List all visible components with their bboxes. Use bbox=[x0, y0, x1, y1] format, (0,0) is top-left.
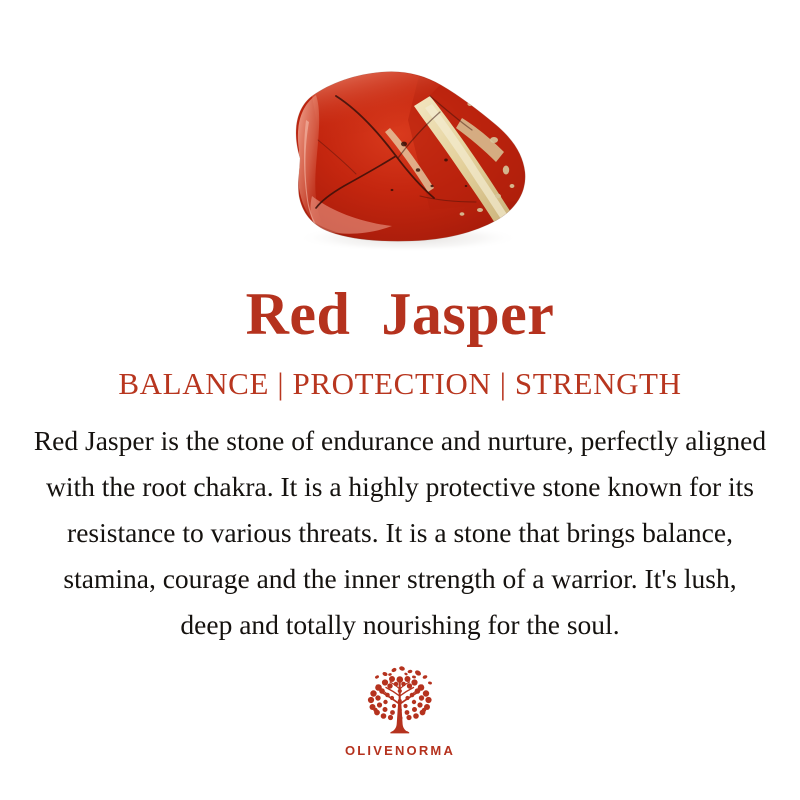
product-info-card: Red Jasper BALANCE | PROTECTION | STRENG… bbox=[0, 0, 800, 800]
keywords-line: BALANCE | PROTECTION | STRENGTH bbox=[118, 366, 681, 402]
product-image bbox=[0, 0, 800, 268]
description-line: with the root chakra. It is a highly pro… bbox=[16, 464, 784, 510]
stone-body bbox=[280, 60, 540, 255]
tree-icon bbox=[354, 664, 446, 742]
page-title: Red Jasper bbox=[246, 284, 555, 344]
description-line: deep and totally nourishing for the soul… bbox=[16, 602, 784, 648]
brand-wordmark: OLIVENORMA bbox=[345, 743, 455, 758]
brand-logo: OLIVENORMA bbox=[345, 664, 455, 758]
description-line: stamina, courage and the inner strength … bbox=[16, 556, 784, 602]
gemstone-icon bbox=[0, 0, 800, 268]
description-line: resistance to various threats. It is a s… bbox=[16, 510, 784, 556]
description-line: Red Jasper is the stone of endurance and… bbox=[16, 418, 784, 464]
description-paragraph: Red Jasper is the stone of endurance and… bbox=[16, 418, 784, 648]
